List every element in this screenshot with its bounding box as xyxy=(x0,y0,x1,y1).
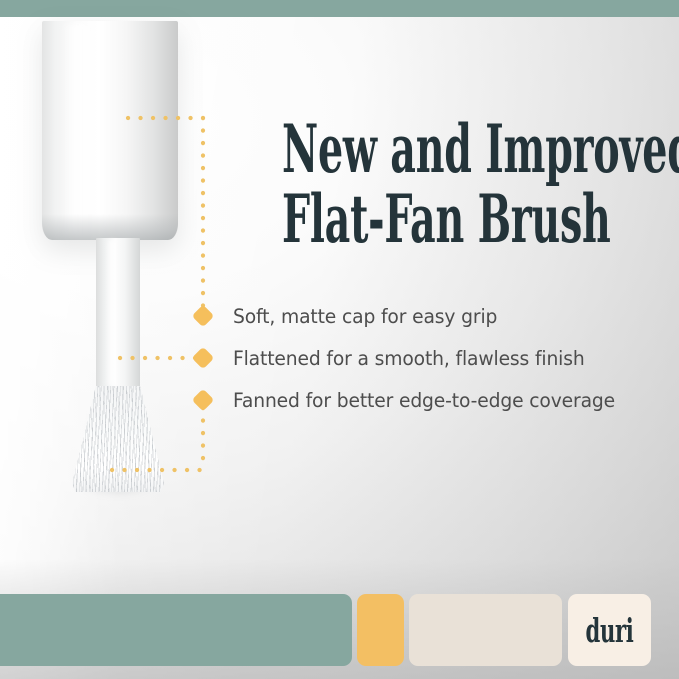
footer-logo-block: duri xyxy=(568,594,651,666)
diamond-bullet-icon xyxy=(192,305,215,328)
diamond-bullet-icon xyxy=(192,347,215,370)
footer-cream-block xyxy=(409,594,562,666)
diamond-bullet-icon xyxy=(192,389,215,412)
dotted-connector-path xyxy=(0,0,679,679)
list-item: Flattened for a smooth, flawless finish xyxy=(190,345,599,371)
footer-yellow-block xyxy=(357,594,404,666)
list-item: Soft, matte cap for easy grip xyxy=(190,303,508,329)
headline-line-1: New and Improved xyxy=(282,116,516,182)
list-item-label: Flattened for a smooth, flawless finish xyxy=(233,347,585,370)
headline-line-2: Flat-Fan Brush xyxy=(282,186,516,252)
list-item: Fanned for better edge-to-edge coverage xyxy=(190,387,631,413)
list-item-label: Fanned for better edge-to-edge coverage xyxy=(233,389,615,412)
list-item-label: Soft, matte cap for easy grip xyxy=(233,305,497,328)
footer-teal-block xyxy=(0,594,352,666)
brand-logo: duri xyxy=(586,614,634,647)
headline: New and Improved Flat-Fan Brush xyxy=(282,116,672,252)
footer-color-bar: duri xyxy=(0,582,679,679)
promo-graphic: New and Improved Flat-Fan Brush Soft, ma… xyxy=(0,0,679,679)
